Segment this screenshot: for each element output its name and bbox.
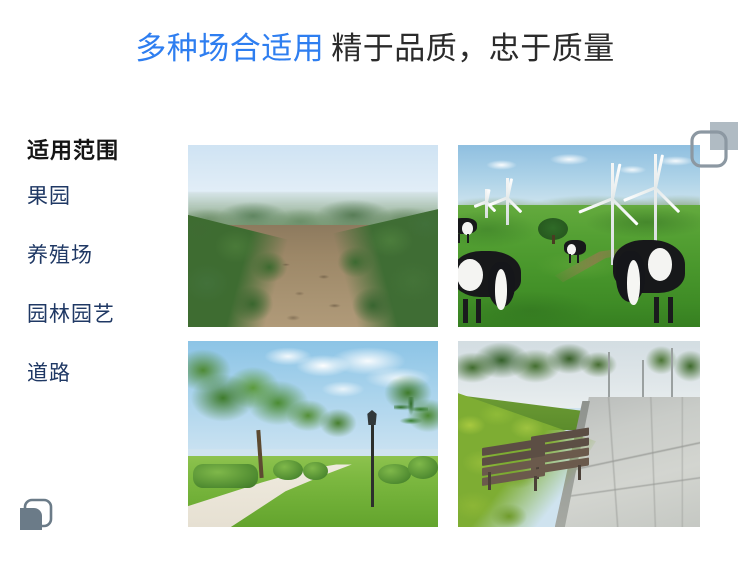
light-pole [671,348,673,404]
light-pole [642,360,644,401]
hedge-shrub [408,456,438,478]
page-title: 多种场合适用精于品质，忠于质量 [135,33,615,64]
bench-leg [534,476,537,491]
cow-figure [564,240,586,264]
cow-leg [458,234,460,243]
cow-leg [476,299,481,324]
light-pole [608,352,610,400]
sidebar-item-orchard: 果园 [27,186,177,207]
page-header: 多种场合适用精于品质，忠于质量 [0,0,750,96]
lone-tree [538,218,568,240]
cow-figure [613,240,686,324]
photo-gallery [188,145,700,527]
cow-figure [458,251,521,324]
turbine-blade [485,189,490,202]
scope-sidebar: 适用范围 果园 养殖场 园林园艺 道路 [27,140,177,384]
sidebar-heading: 适用范围 [27,140,177,162]
photo-pasture [458,145,700,327]
photo-roadside [458,341,700,527]
wind-turbine-icon [647,154,665,245]
cow-leg [467,234,469,243]
cow-leg [569,254,571,263]
bench-leg [488,472,491,489]
hedge-shrub [193,464,258,488]
bench-leg [578,465,581,480]
hedge-shrub [378,464,411,484]
cow-leg [463,299,468,324]
palm-tree [394,397,428,431]
cow-leg [577,254,579,263]
lamp-post [371,421,374,507]
wind-turbine-icon [502,178,514,225]
rounded-square-logo-icon [688,120,740,172]
cow-patch [462,222,473,235]
photo-orchard [188,145,438,327]
path-texture [268,251,358,327]
cow-leg [668,297,673,324]
sidebar-item-road: 道路 [27,363,177,384]
page-title-rest: 精于品质，忠于质量 [331,31,615,66]
turbine-mast [654,154,657,245]
cow-figure [458,218,477,243]
sidebar-item-farm: 养殖场 [27,245,177,266]
rounded-square-logo-icon [16,495,56,535]
park-bench [482,441,545,489]
photo-park [188,341,438,527]
cow-leg [654,297,659,324]
sidebar-item-gardening: 园林园艺 [27,304,177,325]
page-title-accent: 多种场合适用 [135,31,324,66]
